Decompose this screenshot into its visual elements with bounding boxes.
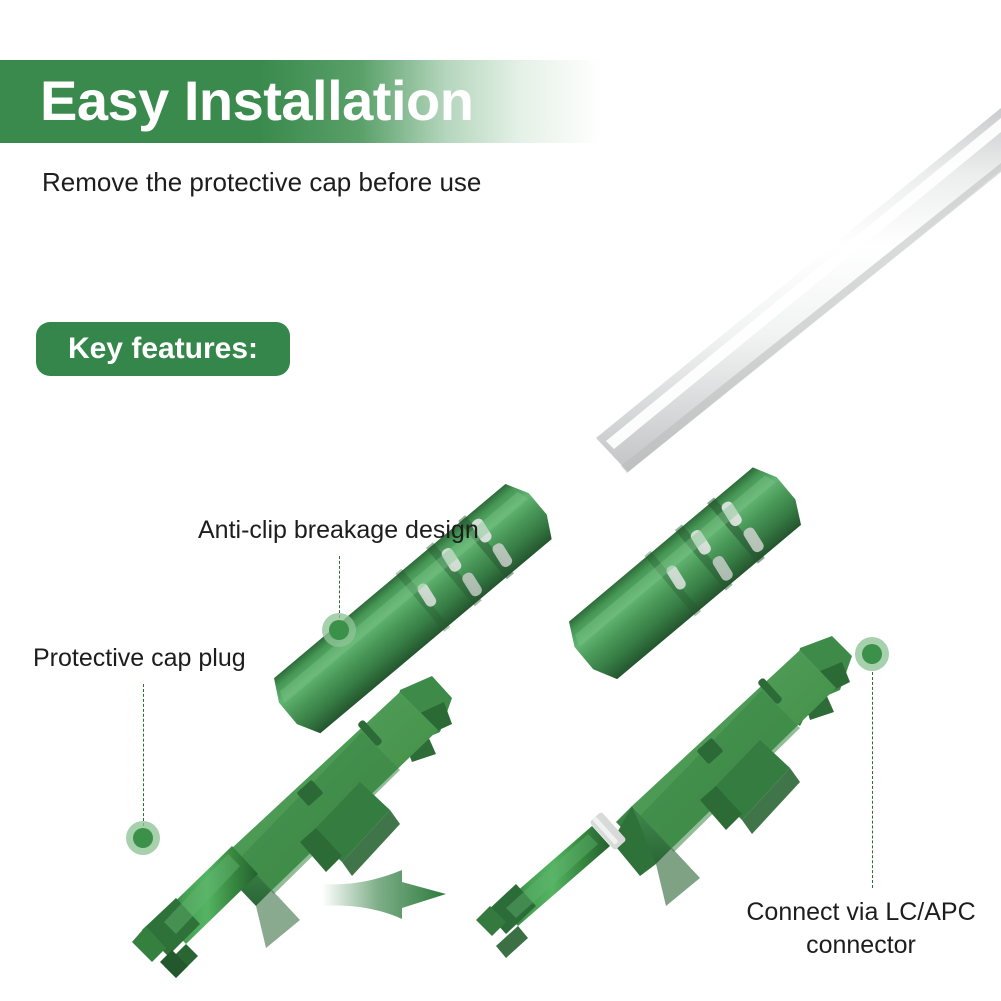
left-connector-body [132, 676, 452, 978]
callout-label-protective-cap: Protective cap plug [33, 644, 246, 673]
key-features-label: Key features: [36, 322, 290, 376]
callout-marker-lc-apc [855, 637, 889, 671]
upper-connector-boot [558, 458, 811, 688]
page-title: Easy Installation [40, 66, 473, 136]
callout-leader-anti-clip [339, 556, 340, 618]
callout-leader-lc-apc [872, 672, 873, 888]
detached-protective-cap [476, 826, 610, 958]
callout-marker-anti-clip [322, 613, 356, 647]
infographic-canvas: Easy Installation Remove the protective … [0, 0, 1001, 1001]
direction-arrow-icon [320, 862, 450, 928]
right-connector-body [589, 636, 852, 908]
page-subtitle: Remove the protective cap before use [42, 167, 481, 198]
key-features-badge: Key features: [36, 322, 290, 376]
callout-leader-protective-cap [143, 684, 144, 826]
callout-label-anti-clip: Anti-clip breakage design [198, 516, 479, 545]
callout-marker-protective-cap [126, 821, 160, 855]
fiber-cable [596, 108, 1001, 473]
callout-label-lc-apc: Connect via LC/APC connector [741, 896, 981, 962]
attached-protective-cap [132, 846, 258, 978]
